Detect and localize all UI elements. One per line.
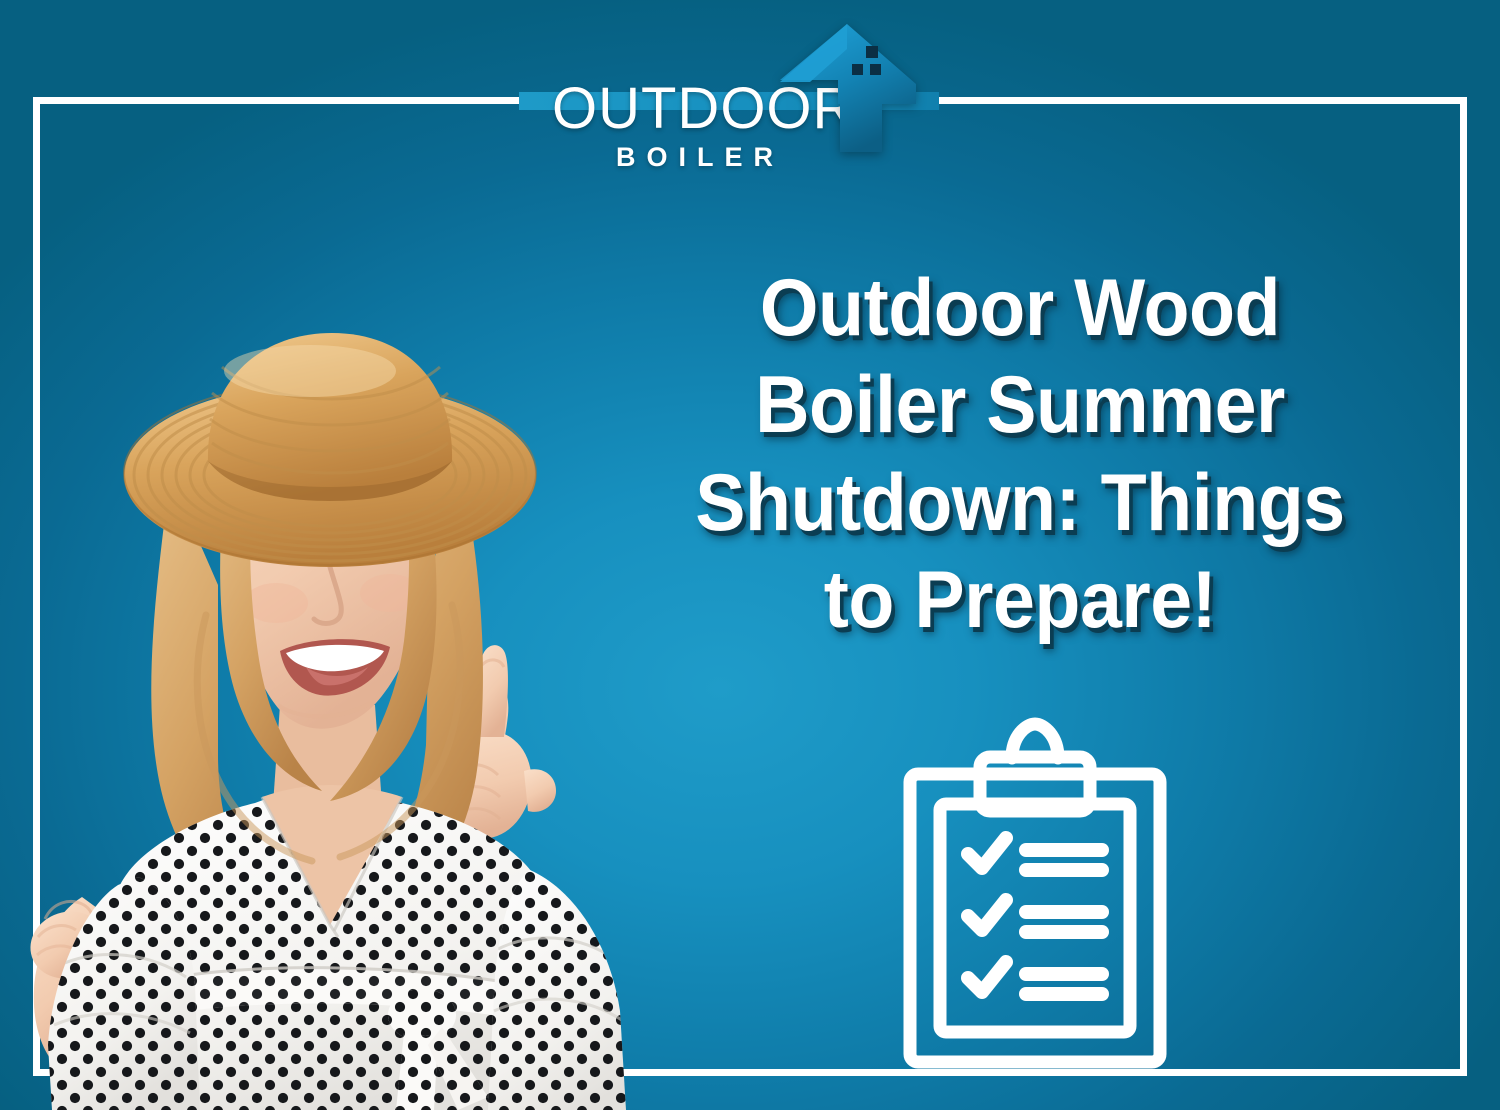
headline-line-4: to Prepare! [620, 552, 1420, 649]
house-arrow-icon [778, 22, 918, 154]
headline-line-1: Outdoor Wood [620, 260, 1420, 357]
headline-line-2: Boiler Summer [620, 357, 1420, 454]
woman-photo [0, 285, 680, 1110]
promo-banner: OUTDOOR BOILER Outdoor Wood Boiler Summe… [0, 0, 1500, 1110]
logo-subtext: BOILER [616, 144, 784, 171]
headline-line-3: Shutdown: Things [620, 455, 1420, 552]
page-title: Outdoor Wood Boiler Summer Shutdown: Thi… [620, 260, 1420, 649]
clipboard-checklist-icon [900, 712, 1170, 1072]
outdoor-boiler-logo[interactable]: OUTDOOR BOILER [520, 22, 940, 174]
